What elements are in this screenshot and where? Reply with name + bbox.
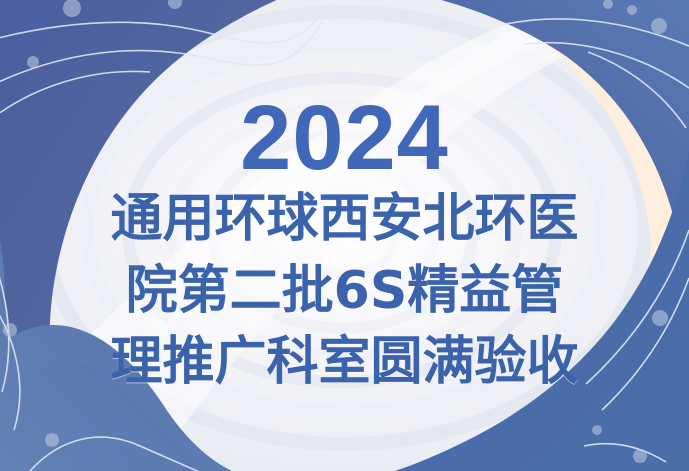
decorative-background bbox=[0, 0, 689, 471]
dot bbox=[633, 449, 647, 463]
poster-canvas: 2024 通用环球西安北环医 院第二批6S精益管 理推广科室圆满验收 bbox=[0, 0, 689, 471]
dot bbox=[45, 433, 59, 447]
dot bbox=[651, 18, 667, 34]
dot bbox=[27, 56, 39, 68]
dot bbox=[627, 5, 637, 15]
dot bbox=[3, 323, 17, 337]
dot bbox=[592, 425, 602, 435]
dot bbox=[652, 310, 668, 326]
